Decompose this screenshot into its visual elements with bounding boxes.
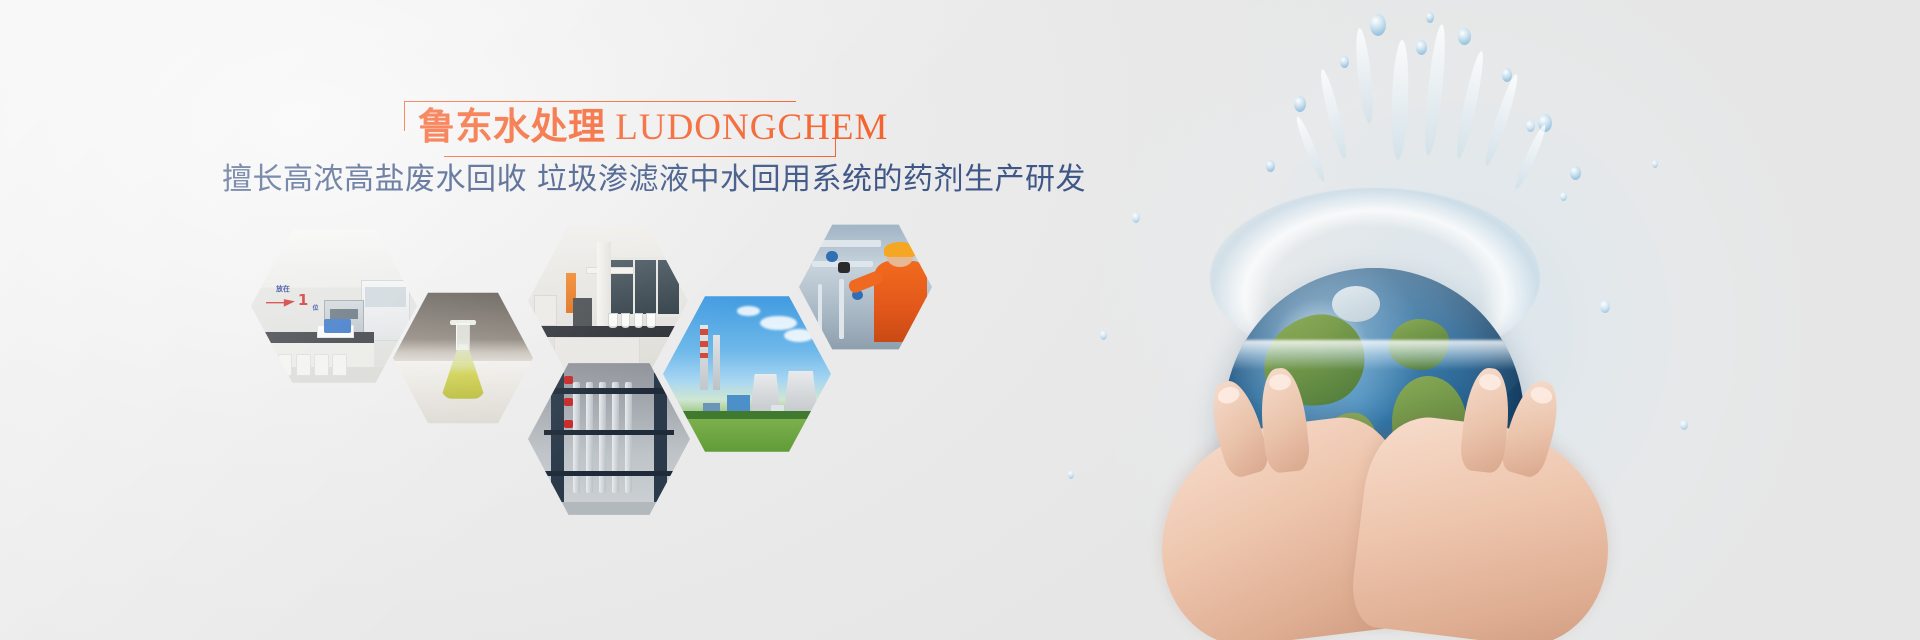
wall-slogan-number: 1 [298,293,308,308]
hex-power-plant [663,293,831,455]
worker-photo [799,222,932,352]
hero-banner: 鲁东水处理 LUDONGCHEM 擅长高浓高盐废水回收 垃圾渗滤液中水回用系统的… [0,0,1920,640]
hexagon-photo-cluster: 放在 1 位 [0,0,1000,640]
equipment-photo [528,360,690,518]
arrow-icon [266,299,295,307]
wall-slogan: 放在 1 位 [264,284,337,319]
hex-lab-bench [528,223,688,379]
lab-room-photo: 放在 1 位 [251,226,417,386]
wall-slogan-line1: 放在 [276,284,290,294]
safety-helmet-icon [884,242,916,258]
hex-equipment [528,360,690,518]
wall-slogan-unit: 位 [312,303,318,312]
water-splash-globe-scene [1040,0,1920,640]
lab-bench-photo [528,223,688,379]
power-plant-photo [663,293,831,455]
hex-lab-room: 放在 1 位 [251,226,417,386]
hands-holding-globe [1150,398,1620,640]
hex-worker [799,222,932,352]
